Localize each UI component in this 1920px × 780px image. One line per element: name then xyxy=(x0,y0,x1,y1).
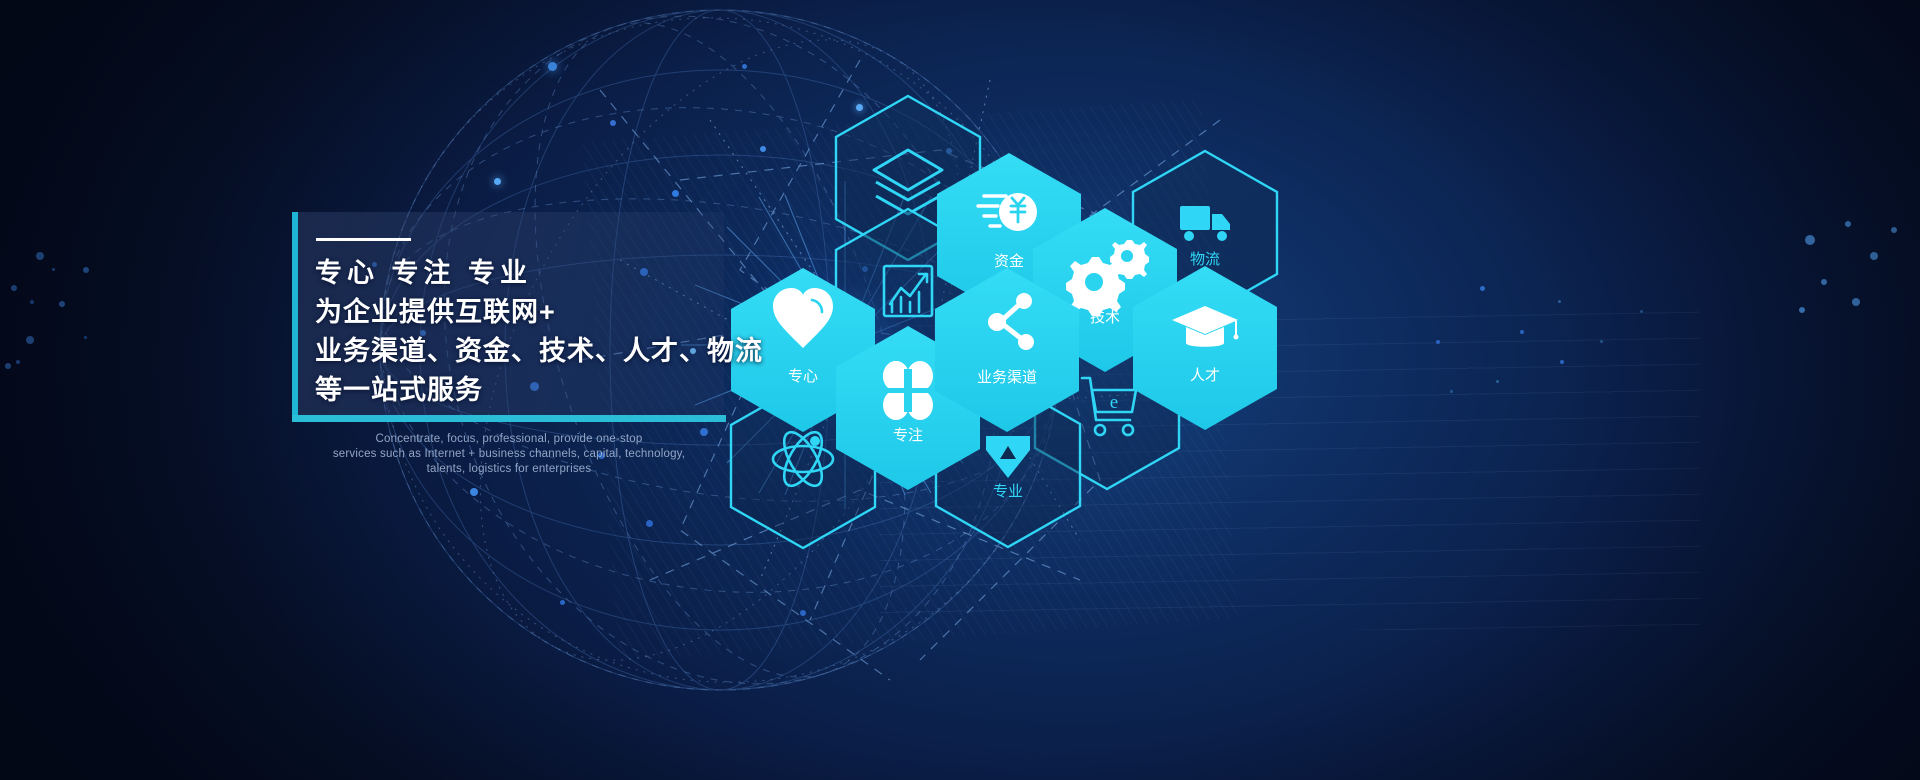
hex-label-rencai: 人才 xyxy=(1190,367,1220,384)
caption-line-1: Concentrate, focus, professional, provid… xyxy=(292,432,726,447)
title-rule xyxy=(316,238,411,241)
panel-underline xyxy=(292,415,726,422)
headline-line-1: 专心 专注 专业 xyxy=(315,254,775,293)
caption-line-2: services such as Internet + business cha… xyxy=(292,447,726,462)
hex-label-yewu: 业务渠道 xyxy=(977,369,1037,386)
hero-caption: Concentrate, focus, professional, provid… xyxy=(292,432,726,477)
headline-line-2: 为企业提供互联网+ xyxy=(315,293,775,332)
hex-label-zhuanxin: 专心 xyxy=(788,368,818,385)
hero-text-panel: 专心 专注 专业 为企业提供互联网+ 业务渠道、资金、技术、人才、物流 等一站式… xyxy=(292,212,724,422)
hex-label-zhuanye: 专业 xyxy=(993,483,1023,500)
clover-icon xyxy=(883,361,933,420)
svg-text:e: e xyxy=(1110,392,1118,413)
hex-label-wuliu: 物流 xyxy=(1190,251,1220,268)
hero-banner: e 专业 物流 xyxy=(0,0,1920,780)
headline-line-4: 等一站式服务 xyxy=(315,371,775,410)
headline-line-3: 业务渠道、资金、技术、人才、物流 xyxy=(315,332,775,371)
hex-label-zhuanzhu: 专注 xyxy=(893,427,923,444)
hex-label-zijin: 资金 xyxy=(994,253,1024,270)
hexagon-cluster: e 专业 物流 xyxy=(0,0,1920,780)
page-title: 专心 专注 专业 为企业提供互联网+ 业务渠道、资金、技术、人才、物流 等一站式… xyxy=(315,254,775,410)
caption-line-3: talents, logistics for enterprises xyxy=(292,462,726,477)
hex-label-jishu: 技术 xyxy=(1090,309,1120,326)
